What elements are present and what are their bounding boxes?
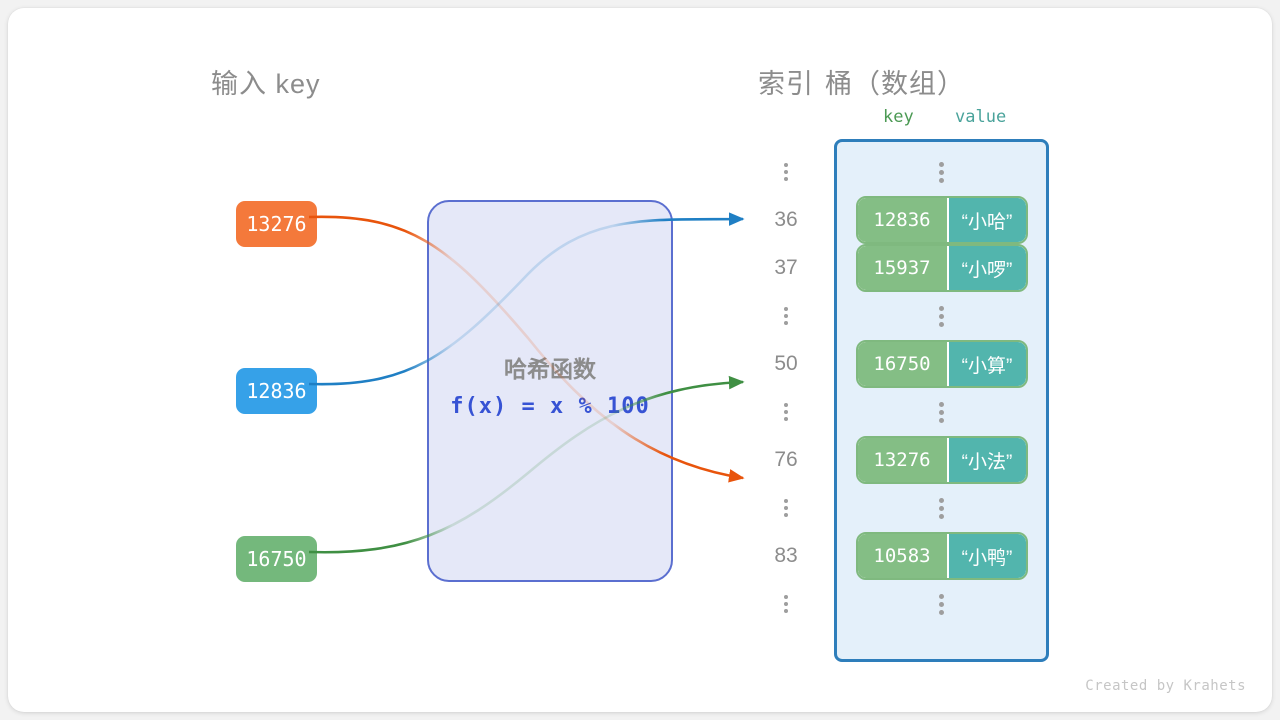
bucket-ellipsis <box>837 580 1046 628</box>
input-key-chip: 13276 <box>236 201 317 247</box>
entry-key: 15937 <box>858 246 947 290</box>
index-ellipsis <box>754 580 818 628</box>
entry-key: 16750 <box>858 342 947 386</box>
bucket-entry: 15937“小啰” <box>856 244 1028 292</box>
index-ellipsis <box>754 388 818 436</box>
index-value: 37 <box>754 244 818 292</box>
index-value: 83 <box>754 532 818 580</box>
bucket-entry: 16750“小算” <box>856 340 1028 388</box>
entry-value: “小法” <box>947 438 1026 482</box>
column-heading-input: 输入 key <box>211 62 321 101</box>
index-ellipsis <box>754 292 818 340</box>
bucket-entry: 10583“小鸭” <box>856 532 1028 580</box>
entry-value: “小算” <box>947 342 1026 386</box>
bucket-ellipsis <box>837 484 1046 532</box>
hash-function-box: 哈希函数 f(x) = x % 100 <box>427 200 673 582</box>
hash-function-formula: f(x) = x % 100 <box>429 394 671 419</box>
index-value: 36 <box>754 196 818 244</box>
hash-function-title: 哈希函数 <box>429 350 671 384</box>
bucket-ellipsis <box>837 292 1046 340</box>
column-heading-bucket: 桶（数组） <box>825 62 965 101</box>
index-value: 50 <box>754 340 818 388</box>
bucket-array: 12836“小哈”15937“小啰”16750“小算”13276“小法”1058… <box>834 139 1049 662</box>
subheading-key: key <box>883 107 914 127</box>
entry-key: 12836 <box>858 198 947 242</box>
diagram-card: 输入 key 索引 桶（数组） key value 13276 12836 16… <box>8 8 1272 712</box>
entry-value: “小哈” <box>947 198 1026 242</box>
subheading-value: value <box>955 107 1006 127</box>
entry-value: “小鸭” <box>947 534 1026 578</box>
credit-text: Created by Krahets <box>1085 678 1246 694</box>
entry-value: “小啰” <box>947 246 1026 290</box>
entry-key: 13276 <box>858 438 947 482</box>
bucket-entry: 12836“小哈” <box>856 196 1028 244</box>
entry-key: 10583 <box>858 534 947 578</box>
bucket-ellipsis <box>837 148 1046 196</box>
bucket-entry: 13276“小法” <box>856 436 1028 484</box>
input-key-chip: 12836 <box>236 368 317 414</box>
index-value: 76 <box>754 436 818 484</box>
column-heading-index: 索引 <box>758 62 814 101</box>
index-column: 3637507683 <box>754 148 818 628</box>
input-key-chip: 16750 <box>236 536 317 582</box>
bucket-ellipsis <box>837 388 1046 436</box>
index-ellipsis <box>754 148 818 196</box>
index-ellipsis <box>754 484 818 532</box>
